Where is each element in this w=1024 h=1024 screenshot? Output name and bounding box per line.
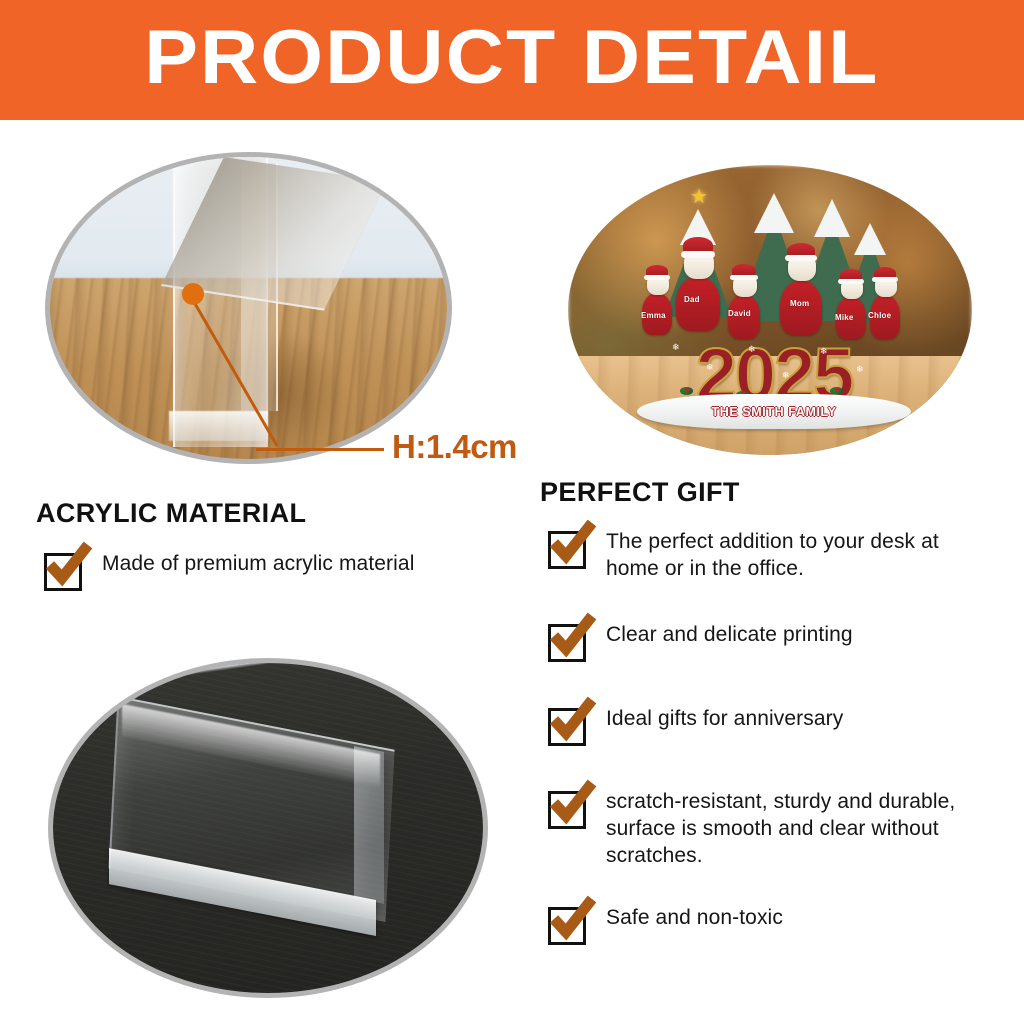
feature-text: The perfect addition to your desk at hom… — [606, 529, 996, 583]
tree-snow-cap-icon — [854, 223, 886, 255]
check-icon — [548, 531, 586, 569]
santa-hat-icon — [732, 264, 756, 277]
check-icon — [548, 791, 586, 829]
feature-text: scratch-resistant, sturdy and durable, s… — [606, 789, 996, 870]
tree-snow-cap-icon — [754, 193, 794, 233]
acrylic-edge-photo — [45, 152, 452, 464]
snowflake-icon: ❄ — [672, 343, 680, 352]
santa-hat-icon — [787, 243, 815, 258]
feature-list-item: Safe and non-toxic — [548, 905, 996, 945]
tree-snow-cap-icon — [814, 199, 850, 237]
holly-leaf-icon — [680, 387, 693, 395]
section-heading-acrylic: ACRYLIC MATERIAL — [36, 498, 306, 529]
santa-hat-icon — [683, 237, 713, 254]
snowflake-icon: ❄ — [748, 345, 756, 354]
check-icon — [548, 708, 586, 746]
section-heading-gift: PERFECT GIFT — [540, 477, 740, 508]
callout-leader-line-horizontal — [256, 448, 384, 451]
check-icon — [548, 907, 586, 945]
height-measurement-label: H:1.4cm — [392, 428, 517, 466]
feature-text: Clear and delicate printing — [606, 622, 853, 649]
snowman-name-tag: David — [728, 309, 751, 318]
snowman-family-ornament-photo: ★ Dad Emma David Mom Mike Chloe 2025 ❄ ❄… — [568, 165, 972, 455]
snowman-name-tag: Mom — [790, 299, 809, 308]
check-icon — [548, 624, 586, 662]
feature-text: Safe and non-toxic — [606, 905, 783, 932]
santa-hat-icon — [646, 265, 668, 277]
acrylic-base-highlight — [169, 411, 268, 441]
check-icon — [44, 553, 82, 591]
snowman-name-tag: Chloe — [868, 311, 891, 320]
feature-list-item: scratch-resistant, sturdy and durable, s… — [548, 789, 996, 870]
star-topper-icon: ★ — [690, 187, 708, 207]
snowflake-icon: ❄ — [706, 363, 714, 372]
snowflake-icon: ❄ — [782, 371, 790, 380]
measurement-dot-icon — [182, 283, 204, 305]
feature-text: Made of premium acrylic material — [102, 551, 414, 578]
snowman-name-tag: Emma — [641, 311, 666, 320]
snowman-name-tag: Mike — [835, 313, 854, 322]
feature-list-item: The perfect addition to your desk at hom… — [548, 529, 996, 583]
santa-hat-icon — [874, 267, 896, 279]
snowman-name-tag: Dad — [684, 295, 700, 304]
feature-text: Ideal gifts for anniversary — [606, 706, 843, 733]
feature-list-item: Ideal gifts for anniversary — [548, 706, 996, 746]
snowflake-icon: ❄ — [820, 347, 828, 356]
acrylic-block-photo — [48, 658, 488, 998]
header-banner: PRODUCT DETAIL — [0, 0, 1024, 120]
page-title: PRODUCT DETAIL — [144, 20, 879, 100]
ornament-name-plate: THE SMITH FAMILY — [637, 394, 912, 429]
feature-list-item: Clear and delicate printing — [548, 622, 996, 662]
santa-hat-icon — [840, 269, 862, 281]
snowflake-icon: ❄ — [856, 365, 864, 374]
family-name-text: THE SMITH FAMILY — [711, 405, 836, 419]
feature-list-item: Made of premium acrylic material — [44, 551, 514, 591]
